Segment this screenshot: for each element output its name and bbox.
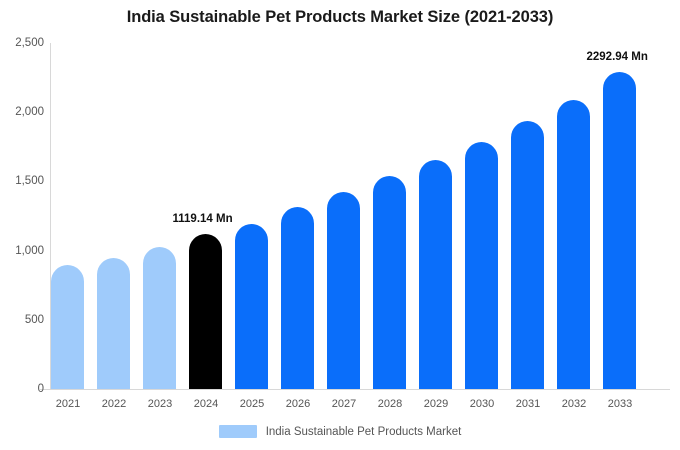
y-tick-label: 2,500 bbox=[0, 37, 44, 49]
y-axis-tick-labels: 05001,0001,5002,0002,500 bbox=[0, 0, 44, 450]
bar-2028[interactable] bbox=[373, 176, 406, 389]
bar-2032[interactable] bbox=[557, 100, 590, 389]
data-label-2024: 1119.14 Mn bbox=[173, 213, 233, 225]
bar-2030[interactable] bbox=[465, 142, 498, 389]
bar-2026[interactable] bbox=[281, 207, 314, 389]
x-tick-label-2023: 2023 bbox=[137, 398, 183, 410]
x-tick-label-2025: 2025 bbox=[229, 398, 275, 410]
chart-container: India Sustainable Pet Products Market Si… bbox=[0, 0, 680, 450]
x-tick-label-2032: 2032 bbox=[551, 398, 597, 410]
bar-2025[interactable] bbox=[235, 224, 268, 389]
bar-2023[interactable] bbox=[143, 247, 176, 389]
x-tick-label-2028: 2028 bbox=[367, 398, 413, 410]
x-tick-label-2022: 2022 bbox=[91, 398, 137, 410]
plot-area bbox=[51, 43, 668, 389]
y-tick-label: 0 bbox=[0, 383, 44, 395]
x-tick-label-2027: 2027 bbox=[321, 398, 367, 410]
chart-title: India Sustainable Pet Products Market Si… bbox=[0, 8, 680, 27]
bar-2031[interactable] bbox=[511, 121, 544, 389]
bar-2027[interactable] bbox=[327, 192, 360, 389]
chart-legend: India Sustainable Pet Products Market bbox=[0, 425, 680, 438]
x-tick-label-2030: 2030 bbox=[459, 398, 505, 410]
y-tick-label: 2,000 bbox=[0, 106, 44, 118]
bar-2022[interactable] bbox=[97, 258, 130, 389]
bar-2029[interactable] bbox=[419, 160, 452, 389]
y-tick-label: 1,500 bbox=[0, 175, 44, 187]
bar-2033[interactable] bbox=[603, 72, 636, 389]
x-tick-label-2031: 2031 bbox=[505, 398, 551, 410]
legend-swatch-india-sustainable-pet-products-market bbox=[219, 425, 257, 438]
x-tick-label-2021: 2021 bbox=[45, 398, 91, 410]
data-label-2033: 2292.94 Mn bbox=[587, 51, 648, 63]
x-axis-line bbox=[40, 389, 670, 390]
x-tick-label-2024: 2024 bbox=[183, 398, 229, 410]
bar-2021[interactable] bbox=[51, 265, 84, 389]
x-tick-label-2026: 2026 bbox=[275, 398, 321, 410]
bar-2024[interactable] bbox=[189, 234, 222, 389]
x-tick-label-2033: 2033 bbox=[597, 398, 643, 410]
x-tick-label-2029: 2029 bbox=[413, 398, 459, 410]
legend-label-india-sustainable-pet-products-market: India Sustainable Pet Products Market bbox=[266, 426, 462, 438]
y-tick-label: 1,000 bbox=[0, 245, 44, 257]
y-tick-label: 500 bbox=[0, 314, 44, 326]
